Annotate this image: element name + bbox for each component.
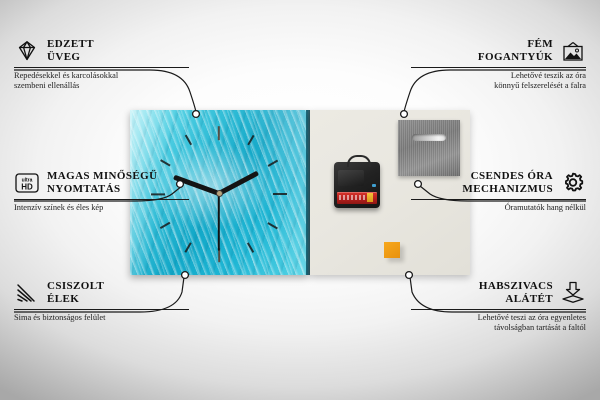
gear-icon: [560, 171, 586, 195]
polished-edge-icon: [14, 281, 40, 305]
foam-pad: [384, 242, 400, 258]
feature-divider: [411, 67, 586, 68]
svg-text:HD: HD: [21, 182, 33, 191]
metal-hanger-icon: [398, 120, 460, 176]
battery: [337, 192, 377, 204]
feature-divider: [411, 309, 586, 310]
battery-terminal: [367, 193, 373, 202]
feature-description: Sima és biztonságos felület: [14, 313, 189, 323]
clock-second-hand: [218, 193, 220, 251]
feature-header: CSENDES ÓRA MECHANIZMUS: [411, 170, 586, 195]
mechanism-hook: [347, 155, 371, 167]
battery-label: [339, 195, 365, 200]
feature-header: EDZETT ÜVEG: [14, 38, 189, 63]
clock-mechanism: [334, 162, 380, 208]
feature-header: CSISZOLT ÉLEK: [14, 280, 189, 305]
mechanism-indicator: [372, 184, 376, 187]
feature-title: HABSZIVACS ALÁTÉT: [479, 280, 553, 305]
feature-divider: [14, 67, 189, 68]
picture-hanger-icon: [560, 39, 586, 63]
feature-divider: [14, 309, 189, 310]
feature-title: EDZETT ÜVEG: [47, 38, 94, 63]
feature-foam-backing: HABSZIVACS ALÁTÉT Lehetővé teszi az óra …: [411, 280, 586, 333]
feature-description: Lehetővé teszik az óra könnyű felszerelé…: [411, 71, 586, 91]
feature-header: FÉM FOGANTYÚK: [411, 38, 586, 63]
foam-pad-icon: [560, 281, 586, 305]
feature-metal-handles: FÉM FOGANTYÚK Lehetővé teszik az óra kön…: [411, 38, 586, 91]
feature-title: MAGAS MINŐSÉGŰ NYOMTATÁS: [47, 170, 157, 195]
feature-divider: [14, 199, 189, 200]
feature-description: Lehetővé teszi az óra egyenletes távolsá…: [411, 313, 586, 333]
feature-silent-mechanism: CSENDES ÓRA MECHANIZMUS Óramutatók hang …: [411, 170, 586, 213]
mechanism-body: [338, 170, 364, 186]
clock-center-cap: [216, 190, 223, 197]
feature-title: CSISZOLT ÉLEK: [47, 280, 104, 305]
feature-description: Repedésekkel és karcolásokkal szembeni e…: [14, 71, 189, 91]
feature-header: HABSZIVACS ALÁTÉT: [411, 280, 586, 305]
ultra-hd-icon: ultra HD: [14, 171, 40, 195]
feature-description: Óramutatók hang nélkül: [411, 203, 586, 213]
feature-high-quality-print: ultra HD MAGAS MINŐSÉGŰ NYOMTATÁS Intenz…: [14, 170, 189, 213]
clock-tick: [273, 193, 287, 195]
feature-header: ultra HD MAGAS MINŐSÉGŰ NYOMTATÁS: [14, 170, 189, 195]
hanger-keyhole-slot: [412, 134, 446, 141]
clock-tick: [218, 126, 220, 140]
diamond-icon: [14, 39, 40, 63]
feature-title: CSENDES ÓRA MECHANIZMUS: [462, 170, 553, 195]
feature-divider: [411, 199, 586, 200]
feature-polished-edges: CSISZOLT ÉLEK Sima és biztonságos felüle…: [14, 280, 189, 323]
feature-tempered-glass: EDZETT ÜVEG Repedésekkel és karcolásokka…: [14, 38, 189, 91]
feature-description: Intenzív színek és éles kép: [14, 203, 189, 213]
feature-title: FÉM FOGANTYÚK: [478, 38, 553, 63]
infographic-canvas: EDZETT ÜVEG Repedésekkel és karcolásokka…: [0, 0, 600, 400]
